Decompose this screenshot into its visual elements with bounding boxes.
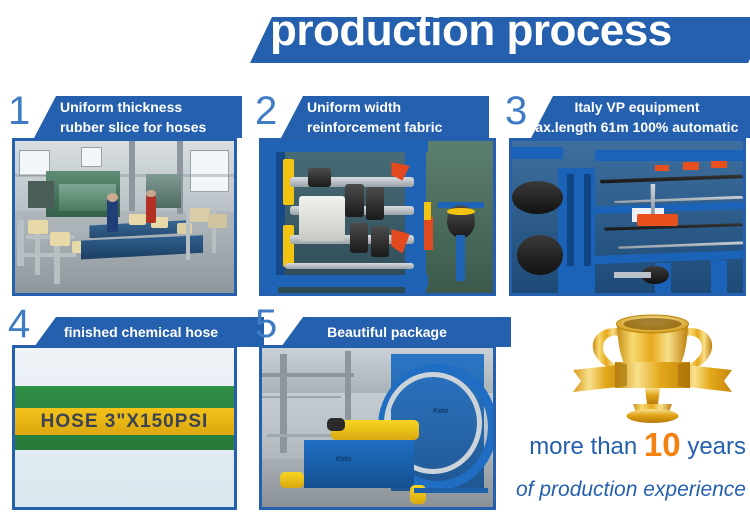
trophy-icon	[565, 300, 740, 430]
step-5-photo: Keto Keto	[259, 345, 496, 510]
page-title: production process	[252, 8, 750, 54]
photo-fabric-slitting-machine	[262, 141, 493, 293]
step-2-caption-line1: Uniform width	[307, 99, 401, 115]
experience-suffix: years	[687, 433, 746, 460]
photo-finished-chemical-hose: HOSE 3"X150PSI	[15, 348, 234, 507]
experience-headline: more than 10 years	[500, 428, 746, 462]
hose-marking-text: HOSE 3"X150PSI	[15, 409, 234, 435]
step-4-photo: HOSE 3"X150PSI	[12, 345, 237, 510]
machine-logo-bed: Keto	[336, 456, 352, 463]
step-2-caption: Uniform width reinforcement fabric	[281, 96, 489, 138]
experience-prefix: more than	[529, 433, 637, 460]
step-2-photo	[259, 138, 496, 296]
step-4-caption-line1: finished chemical hose	[64, 324, 218, 340]
photo-ring-wrapping-machine: Keto Keto	[262, 348, 493, 507]
step-4-caption: finished chemical hose	[34, 317, 242, 347]
step-3-caption: Italy VP equipment Max.length 61m 100% a…	[531, 96, 739, 138]
experience-years-number: 10	[644, 426, 681, 463]
step-5-caption: Beautiful package	[281, 317, 489, 347]
experience-subtitle: of production experience	[490, 475, 746, 505]
step-3-caption-line1: Italy VP equipment	[575, 99, 700, 115]
photo-italy-vp-line	[512, 141, 743, 293]
step-2-caption-line2: reinforcement fabric	[307, 119, 442, 135]
photo-factory-calender-line	[15, 141, 234, 293]
step-1-caption-line2: rubber slice for hoses	[60, 119, 206, 135]
step-1-photo	[12, 138, 237, 296]
step-5-caption-line1: Beautiful package	[327, 324, 447, 340]
step-3-caption-line2: Max.length 61m 100% automatic	[523, 117, 739, 137]
step-3-photo	[509, 138, 746, 296]
machine-logo-ring: Keto	[433, 408, 449, 415]
step-1-caption-line1: Uniform thickness	[60, 99, 182, 115]
production-process-infographic: production process 1 Uniform thickness r…	[0, 0, 750, 525]
step-1-caption: Uniform thickness rubber slice for hoses	[34, 96, 242, 138]
